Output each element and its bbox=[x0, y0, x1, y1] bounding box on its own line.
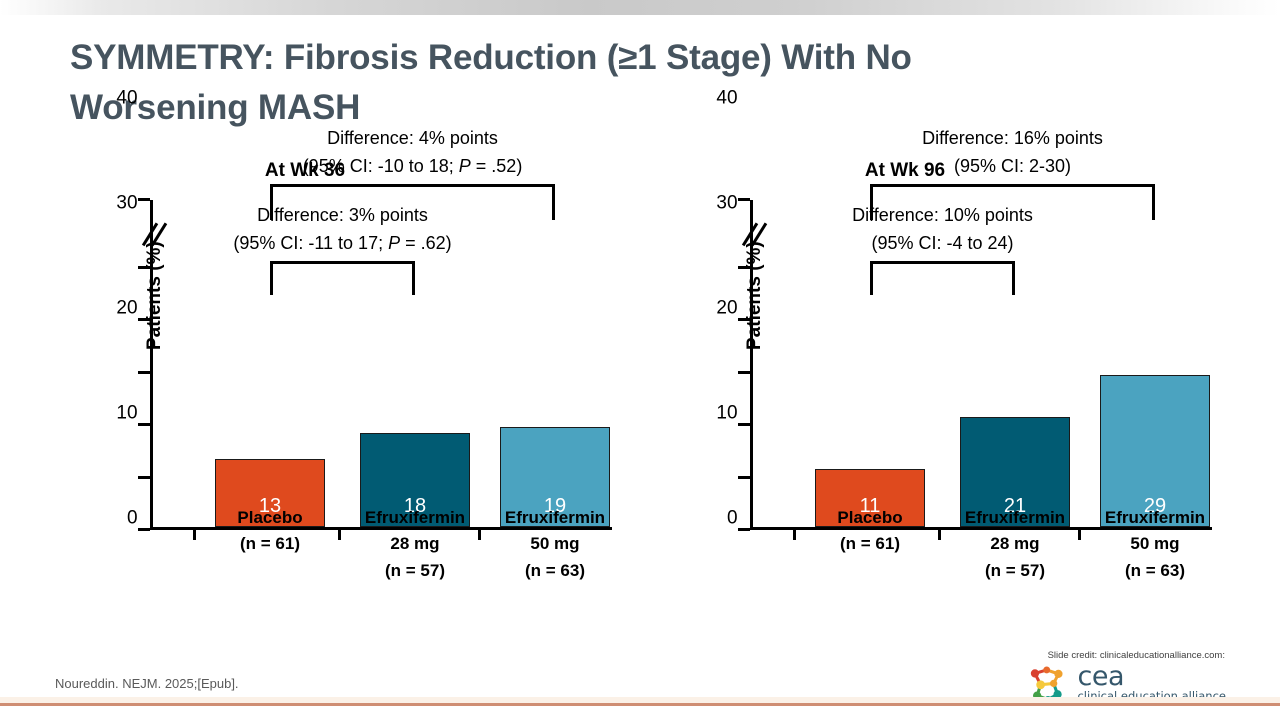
y-tick-label: 0 bbox=[727, 508, 738, 530]
category-label: Efruxifermin50 mg(n = 63) bbox=[475, 505, 635, 584]
category-label-line: (n = 63) bbox=[1075, 558, 1235, 584]
y-tick-label: 50 bbox=[716, 0, 737, 5]
category-label-line: (n = 57) bbox=[935, 558, 1095, 584]
y-tick-label: 20 bbox=[716, 298, 737, 320]
annotation-placebo-vs-efx50: Difference: 4% points(95% CI: -10 to 18;… bbox=[253, 125, 573, 180]
category-label-line: (n = 61) bbox=[790, 531, 950, 557]
bracket-leg-right bbox=[1152, 184, 1155, 220]
y-tick: 100 bbox=[138, 198, 150, 201]
category-label: Efruxifermin28 mg(n = 57) bbox=[335, 505, 495, 584]
bracket-top bbox=[270, 184, 555, 187]
footer-rule bbox=[0, 703, 1280, 706]
slide: SYMMETRY: Fibrosis Reduction (≥1 Stage) … bbox=[0, 0, 1280, 720]
plot-area-wk96: Patients (%) 01020304050100 112129 Diffe… bbox=[750, 200, 1210, 530]
category-label-line: (n = 57) bbox=[335, 558, 495, 584]
slide-credit: Slide credit: clinicaleducationalliance.… bbox=[1048, 650, 1225, 661]
y-tick: 10 bbox=[738, 476, 750, 479]
bracket-leg-right bbox=[1012, 261, 1015, 295]
category-label: Efruxifermin50 mg(n = 63) bbox=[1075, 505, 1235, 584]
bracket-leg-right bbox=[412, 261, 415, 295]
y-tick-label: 30 bbox=[116, 193, 137, 215]
annotation-line-2: (95% CI: 2-30) bbox=[853, 153, 1173, 180]
category-label-line: Placebo bbox=[790, 505, 950, 531]
bracket-top bbox=[870, 184, 1155, 187]
y-tick-label: 40 bbox=[116, 88, 137, 110]
axis-break-marker bbox=[143, 222, 165, 252]
top-decorative-band bbox=[0, 0, 1280, 15]
comparison-bracket-placebo-vs-efx50 bbox=[870, 184, 1155, 220]
comparison-bracket-placebo-vs-efx28 bbox=[870, 261, 1015, 295]
y-tick-label: 20 bbox=[116, 298, 137, 320]
category-label-line: 28 mg bbox=[335, 531, 495, 557]
category-label-line: (n = 63) bbox=[475, 558, 635, 584]
category-label-line: Efruxifermin bbox=[335, 505, 495, 531]
category-label-line: Efruxifermin bbox=[1075, 505, 1235, 531]
y-tick: 0 bbox=[138, 528, 150, 531]
logo-wordmark: cea bbox=[1077, 661, 1124, 692]
annotation-placebo-vs-efx50: Difference: 16% points(95% CI: 2-30) bbox=[853, 125, 1173, 180]
y-tick: 50 bbox=[738, 266, 750, 269]
axis-break-marker bbox=[743, 222, 765, 252]
category-label: Placebo(n = 61) bbox=[190, 505, 350, 558]
comparison-bracket-placebo-vs-efx50 bbox=[270, 184, 555, 220]
bracket-leg-right bbox=[552, 184, 555, 220]
category-label-line: 50 mg bbox=[1075, 531, 1235, 557]
bracket-leg-left bbox=[270, 261, 273, 295]
category-label-line: Efruxifermin bbox=[935, 505, 1095, 531]
y-tick-label: 10 bbox=[116, 403, 137, 425]
p-value-italic: P bbox=[388, 233, 400, 253]
citation: Noureddin. NEJM. 2025;[Epub]. bbox=[55, 676, 239, 691]
plot-area-wk36: Patients (%) 01020304050100 131819 Diffe… bbox=[150, 200, 610, 530]
y-tick: 100 bbox=[738, 198, 750, 201]
bracket-leg-left bbox=[270, 184, 273, 220]
y-tick: 20 bbox=[138, 423, 150, 426]
bracket-leg-left bbox=[870, 261, 873, 295]
category-label-line: (n = 61) bbox=[190, 531, 350, 557]
bracket-leg-left bbox=[870, 184, 873, 220]
y-tick: 40 bbox=[138, 318, 150, 321]
y-tick-label: 50 bbox=[116, 0, 137, 5]
p-value-italic: P bbox=[459, 156, 471, 176]
y-axis-label-wk96: Patients (%) bbox=[744, 241, 766, 350]
annotation-line-2: (95% CI: -11 to 17; P = .62) bbox=[183, 230, 503, 257]
category-label-line: Efruxifermin bbox=[475, 505, 635, 531]
chart-panel-wk36: At Wk 36 Patients (%) 01020304050100 131… bbox=[60, 160, 670, 630]
y-tick: 30 bbox=[138, 371, 150, 374]
y-tick-label: 40 bbox=[716, 88, 737, 110]
bracket-top bbox=[270, 261, 415, 264]
category-label-line: 28 mg bbox=[935, 531, 1095, 557]
category-label: Efruxifermin28 mg(n = 57) bbox=[935, 505, 1095, 584]
annotation-line-1: Difference: 4% points bbox=[253, 125, 573, 152]
annotation-line-1: Difference: 16% points bbox=[853, 125, 1173, 152]
page-title: SYMMETRY: Fibrosis Reduction (≥1 Stage) … bbox=[70, 33, 1060, 132]
comparison-bracket-placebo-vs-efx28 bbox=[270, 261, 415, 295]
y-tick-label: 30 bbox=[716, 193, 737, 215]
annotation-line-2: (95% CI: -4 to 24) bbox=[783, 230, 1103, 257]
y-tick: 0 bbox=[738, 528, 750, 531]
y-tick: 20 bbox=[738, 423, 750, 426]
y-axis-label-wk36: Patients (%) bbox=[144, 241, 166, 350]
y-tick: 40 bbox=[738, 318, 750, 321]
category-label: Placebo(n = 61) bbox=[790, 505, 950, 558]
bracket-top bbox=[870, 261, 1015, 264]
y-tick: 30 bbox=[738, 371, 750, 374]
y-tick-label: 10 bbox=[716, 403, 737, 425]
y-tick: 10 bbox=[138, 476, 150, 479]
y-tick-label: 0 bbox=[127, 508, 138, 530]
annotation-line-2: (95% CI: -10 to 18; P = .52) bbox=[253, 153, 573, 180]
category-label-line: 50 mg bbox=[475, 531, 635, 557]
chart-panel-wk96: At Wk 96 Patients (%) 01020304050100 112… bbox=[660, 160, 1270, 630]
category-label-line: Placebo bbox=[190, 505, 350, 531]
y-tick: 50 bbox=[138, 266, 150, 269]
